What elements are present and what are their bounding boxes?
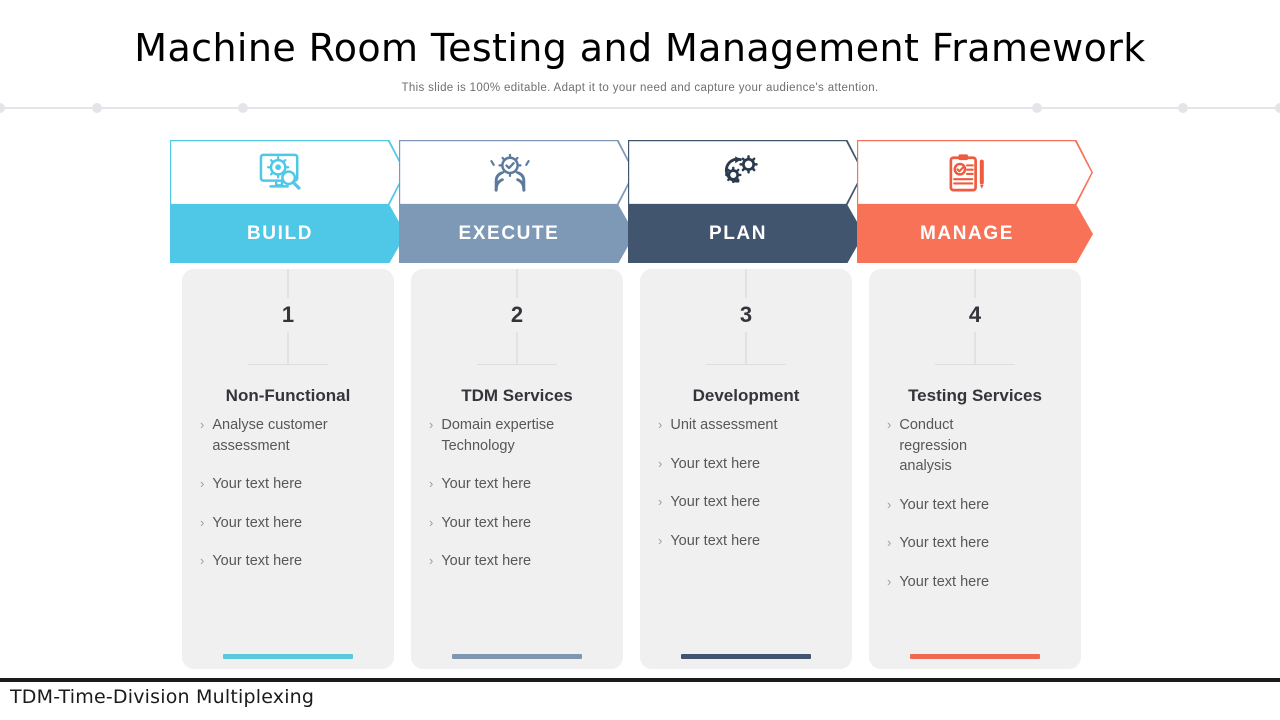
card-heading: Development [640,386,852,406]
list-item-text: Your text here [670,531,760,552]
band-label: EXECUTE [459,223,576,245]
bullet-list: › Analyse customer assessment › Your tex… [200,415,384,590]
footer-text: TDM-Time-Division Multiplexing [10,686,314,708]
decorative-rule-node [0,103,5,113]
chevron-right-icon: › [887,495,891,515]
hands-holding-gear-icon [399,140,635,205]
list-item: › Your text here [887,572,1071,593]
list-item: › Your text here [429,474,613,495]
decorative-rule-node [92,103,102,113]
chevron-right-icon: › [429,415,433,435]
slide-footer: TDM-Time-Division Multiplexing [0,678,1280,720]
decorative-rule-node [1178,103,1188,113]
list-item: › Your text here [887,533,1071,554]
chevron-band-build[interactable]: BUILD [170,205,406,263]
chevron-right-icon: › [887,415,891,435]
content-card-manage: 4 Testing Services › Conduct regression … [869,269,1081,669]
chevron-band-manage[interactable]: MANAGE [857,205,1093,263]
list-item-text: Domain expertise Technology [441,415,613,456]
chevron-right-icon: › [429,513,433,533]
card-number: 2 [411,298,623,332]
decorative-rule-node [238,103,248,113]
list-item: › Your text here [200,513,384,534]
list-item-text: Your text here [212,513,302,534]
list-item: › Your text here [658,492,842,513]
gears-refresh-icon [628,140,864,205]
connector-horizontal-line [477,364,557,365]
chevron-right-icon: › [658,492,662,512]
card-heading: Testing Services [869,386,1081,406]
list-item-text: Your text here [441,513,531,534]
chevron-right-icon: › [200,551,204,571]
decorative-rule-node [1032,103,1042,113]
list-item-text: Conduct regression analysis [899,415,991,477]
chevron-head-build [170,140,406,205]
list-item-text: Your text here [441,474,531,495]
list-item: › Unit assessment [658,415,842,436]
footer-strip [0,678,1280,682]
monitor-gear-magnifier-icon [170,140,406,205]
content-card-execute: 2 TDM Services › Domain expertise Techno… [411,269,623,669]
card-accent-bar [910,654,1040,659]
card-accent-bar [223,654,353,659]
list-item: › Your text here [429,551,613,572]
chevron-right-icon: › [200,415,204,435]
chevron-head-manage [857,140,1093,205]
content-card-build: 1 Non-Functional › Analyse customer asse… [182,269,394,669]
page-subtitle: This slide is 100% editable. Adapt it to… [0,70,1280,94]
list-item: › Conduct regression analysis [887,415,1071,477]
decorative-rule-line [0,107,1280,109]
bullet-list: › Domain expertise Technology › Your tex… [429,415,613,590]
list-item: › Your text here [200,551,384,572]
decorative-rule [0,102,1280,114]
card-accent-bar [681,654,811,659]
chevron-band-execute[interactable]: EXECUTE [399,205,635,263]
framework-column-plan: PLAN 3 Development › Unit assessment › Y… [628,140,864,669]
list-item-text: Analyse customer assessment [212,415,384,456]
framework-columns: BUILD 1 Non-Functional › Analyse custome… [0,140,1280,670]
list-item: › Your text here [200,474,384,495]
band-label: MANAGE [920,223,1030,245]
chevron-right-icon: › [200,513,204,533]
list-item: › Your text here [658,454,842,475]
card-heading: Non-Functional [182,386,394,406]
list-item-text: Your text here [212,474,302,495]
chevron-right-icon: › [429,474,433,494]
framework-column-execute: EXECUTE 2 TDM Services › Domain expertis… [399,140,635,669]
list-item-text: Your text here [212,551,302,572]
list-item: › Your text here [658,531,842,552]
framework-column-build: BUILD 1 Non-Functional › Analyse custome… [170,140,406,669]
connector-horizontal-line [248,364,328,365]
chevron-right-icon: › [887,572,891,592]
content-card-plan: 3 Development › Unit assessment › Your t… [640,269,852,669]
band-label: PLAN [709,223,783,245]
decorative-rule-node [1275,103,1280,113]
framework-column-manage: MANAGE 4 Testing Services › Conduct regr… [857,140,1093,669]
list-item: › Domain expertise Technology [429,415,613,456]
list-item-text: Your text here [441,551,531,572]
list-item-text: Your text here [670,492,760,513]
bullet-list: › Conduct regression analysis › Your tex… [887,415,1071,610]
chevron-band-plan[interactable]: PLAN [628,205,864,263]
connector-horizontal-line [706,364,786,365]
list-item: › Analyse customer assessment [200,415,384,456]
card-number: 1 [182,298,394,332]
list-item-text: Your text here [899,495,989,516]
chevron-head-execute [399,140,635,205]
chevron-right-icon: › [200,474,204,494]
chevron-right-icon: › [658,454,662,474]
chevron-right-icon: › [887,533,891,553]
band-label: BUILD [247,223,329,245]
chevron-right-icon: › [658,531,662,551]
chevron-right-icon: › [658,415,662,435]
list-item-text: Your text here [899,533,989,554]
card-number: 3 [640,298,852,332]
connector-horizontal-line [935,364,1015,365]
list-item-text: Your text here [670,454,760,475]
card-heading: TDM Services [411,386,623,406]
page-title: Machine Room Testing and Management Fram… [0,0,1280,70]
list-item-text: Your text here [899,572,989,593]
list-item: › Your text here [887,495,1071,516]
clipboard-check-pencil-icon [857,140,1093,205]
chevron-right-icon: › [429,551,433,571]
chevron-head-plan [628,140,864,205]
bullet-list: › Unit assessment › Your text here › You… [658,415,842,569]
card-accent-bar [452,654,582,659]
list-item: › Your text here [429,513,613,534]
card-number: 4 [869,298,1081,332]
list-item-text: Unit assessment [670,415,777,436]
